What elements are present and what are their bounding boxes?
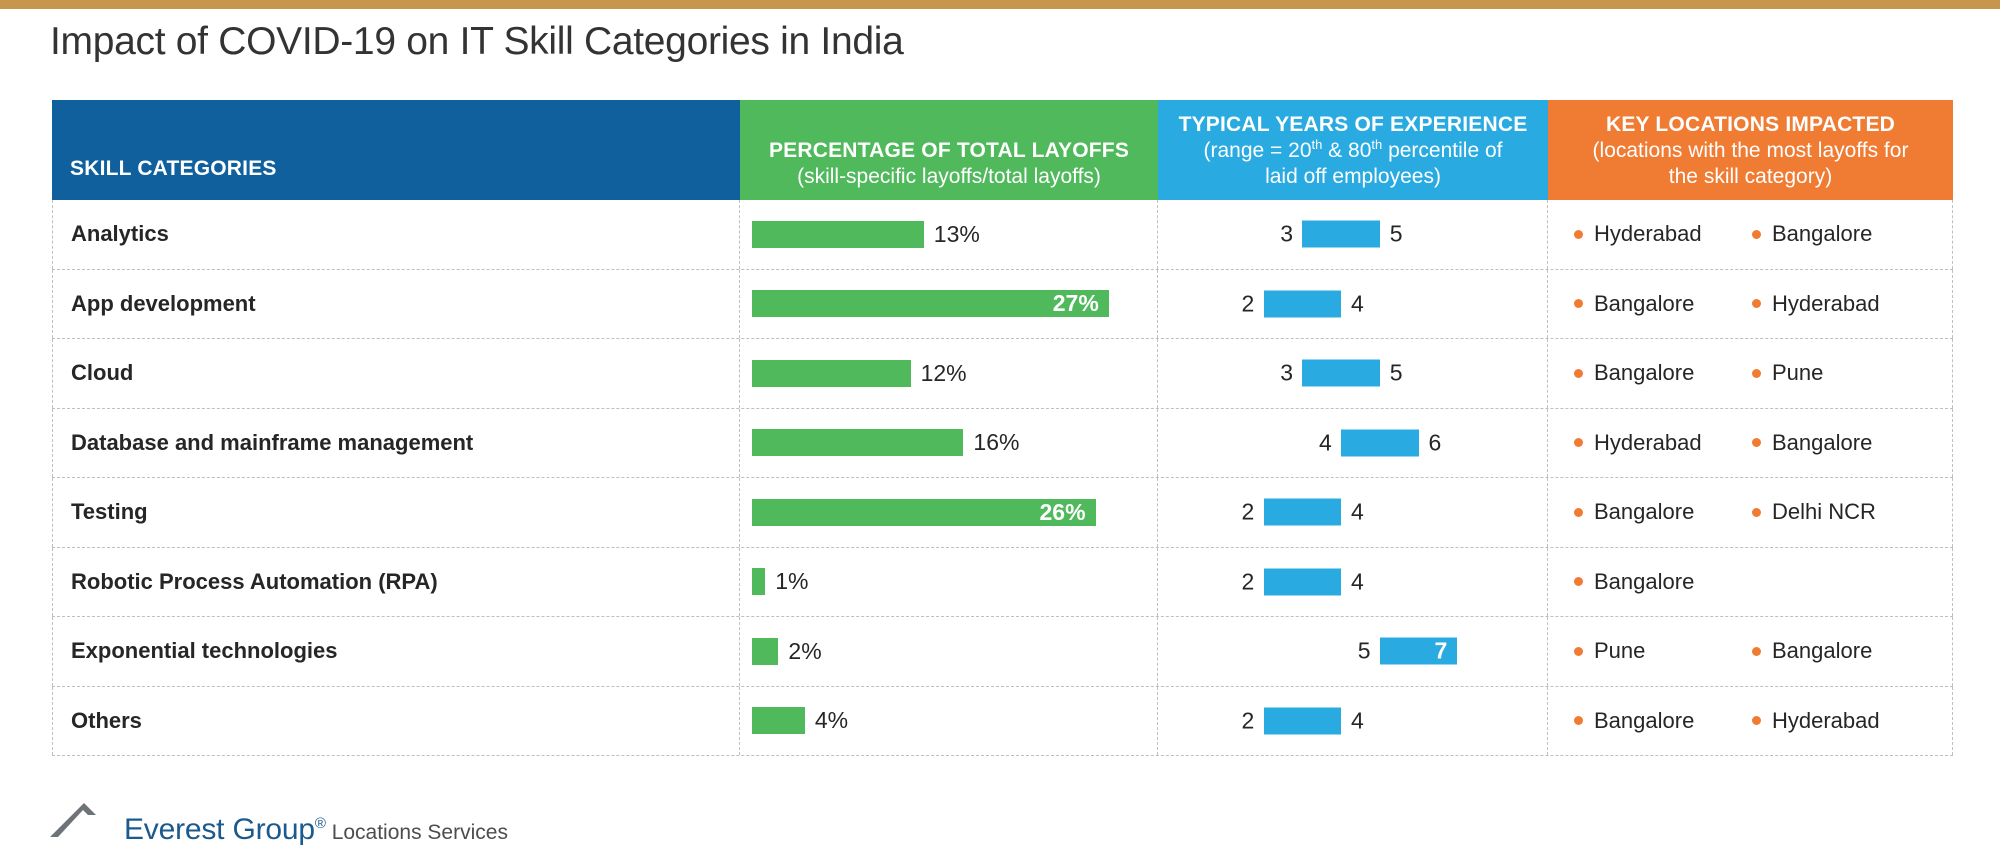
experience-range-bar bbox=[1302, 221, 1380, 248]
bullet-dot-icon bbox=[1752, 508, 1761, 517]
skill-category-label: Robotic Process Automation (RPA) bbox=[71, 569, 438, 595]
experience-range-wrapper: 46 bbox=[1158, 409, 1547, 478]
percentage-bar bbox=[752, 638, 778, 665]
column-header-key-locations-impacted: KEY LOCATIONS IMPACTED (locations with t… bbox=[1548, 100, 1953, 200]
percentage-value-label: 16% bbox=[963, 429, 1019, 456]
list-item: Bangalore bbox=[1752, 638, 1930, 664]
bullet-dot-icon bbox=[1574, 438, 1583, 447]
skill-category-label: App development bbox=[71, 291, 256, 317]
percentage-value-label: 2% bbox=[778, 638, 821, 665]
column-header-locations-subtitle-line1: (locations with the most layoffs for bbox=[1593, 138, 1909, 164]
column-header-experience-subtitle-line2: laid off employees) bbox=[1265, 164, 1441, 190]
location-label: Bangalore bbox=[1594, 291, 1694, 317]
bullet-dot-icon bbox=[1574, 647, 1583, 656]
cell-key-locations-impacted: HyderabadBangalore bbox=[1548, 409, 1953, 478]
skill-category-label: Database and mainframe management bbox=[71, 430, 473, 456]
experience-min-label: 5 bbox=[1358, 638, 1371, 665]
exp-sub-c: percentile of bbox=[1382, 139, 1502, 162]
percentage-value-label: 13% bbox=[924, 221, 980, 248]
skill-category-label: Others bbox=[71, 708, 142, 734]
list-item: Bangalore bbox=[1574, 569, 1752, 595]
list-item: Bangalore bbox=[1752, 430, 1930, 456]
cell-typical-years-of-experience: 24 bbox=[1158, 478, 1548, 547]
table-row: App development27%24BangaloreHyderabad bbox=[52, 270, 1953, 340]
experience-range-bar bbox=[1264, 499, 1342, 526]
bullet-dot-icon bbox=[1752, 369, 1761, 378]
percentage-bar: 26% bbox=[752, 499, 1096, 526]
list-item: Bangalore bbox=[1574, 360, 1752, 386]
location-label: Hyderabad bbox=[1594, 221, 1702, 247]
bullet-dot-icon bbox=[1752, 647, 1761, 656]
column-header-skill-categories-label: SKILL CATEGORIES bbox=[70, 156, 277, 182]
table-row: Others4%24BangaloreHyderabad bbox=[52, 687, 1953, 757]
experience-min-label: 2 bbox=[1242, 290, 1255, 317]
experience-max-label: 5 bbox=[1390, 221, 1403, 248]
cell-percentage-of-total-layoffs: 4% bbox=[740, 687, 1158, 756]
table-row: Database and mainframe management16%46Hy… bbox=[52, 409, 1953, 479]
locations-list: HyderabadBangalore bbox=[1548, 221, 1952, 247]
experience-min-label: 2 bbox=[1242, 568, 1255, 595]
cell-skill-category: Database and mainframe management bbox=[52, 409, 740, 478]
column-header-locations-subtitle-line2: the skill category) bbox=[1669, 164, 1832, 190]
cell-typical-years-of-experience: 24 bbox=[1158, 270, 1548, 339]
everest-group-text: Everest Group bbox=[124, 813, 315, 846]
location-label: Hyderabad bbox=[1772, 291, 1880, 317]
registered-trademark-icon: ® bbox=[315, 815, 326, 832]
exp-sub-b: & 80 bbox=[1322, 139, 1371, 162]
locations-list: BangaloreHyderabad bbox=[1548, 708, 1952, 734]
experience-min-label: 2 bbox=[1242, 499, 1255, 526]
percentage-bar-wrapper: 2% bbox=[740, 638, 1157, 665]
experience-min-label: 3 bbox=[1280, 221, 1293, 248]
location-label: Bangalore bbox=[1772, 430, 1872, 456]
cell-percentage-of-total-layoffs: 12% bbox=[740, 339, 1158, 408]
percentage-bar-wrapper: 4% bbox=[740, 707, 1157, 734]
cell-percentage-of-total-layoffs: 16% bbox=[740, 409, 1158, 478]
bullet-dot-icon bbox=[1574, 299, 1583, 308]
percentage-bar-wrapper: 26% bbox=[740, 499, 1157, 526]
table-row: Cloud12%35BangalorePune bbox=[52, 339, 1953, 409]
cell-typical-years-of-experience: 35 bbox=[1158, 200, 1548, 269]
cell-skill-category: Analytics bbox=[52, 200, 740, 269]
experience-min-label: 3 bbox=[1280, 360, 1293, 387]
percentage-bar-wrapper: 13% bbox=[740, 221, 1157, 248]
exp-sub-a: (range = 20 bbox=[1204, 139, 1312, 162]
experience-range-bar bbox=[1264, 290, 1342, 317]
experience-min-label: 2 bbox=[1242, 707, 1255, 734]
cell-skill-category: Robotic Process Automation (RPA) bbox=[52, 548, 740, 617]
table-row: Testing26%24BangaloreDelhi NCR bbox=[52, 478, 1953, 548]
table-header-row: SKILL CATEGORIES PERCENTAGE OF TOTAL LAY… bbox=[52, 100, 1953, 200]
column-header-percentage-title: PERCENTAGE OF TOTAL LAYOFFS bbox=[769, 138, 1129, 164]
column-header-locations-title: KEY LOCATIONS IMPACTED bbox=[1606, 112, 1895, 138]
location-label: Bangalore bbox=[1772, 638, 1872, 664]
experience-range-wrapper: 35 bbox=[1158, 200, 1547, 269]
exp-sup-80th: th bbox=[1371, 137, 1382, 152]
percentage-bar-wrapper: 27% bbox=[740, 290, 1157, 317]
bullet-dot-icon bbox=[1574, 369, 1583, 378]
exp-sup-20th: th bbox=[1312, 137, 1323, 152]
location-label: Bangalore bbox=[1772, 221, 1872, 247]
location-label: Bangalore bbox=[1594, 708, 1694, 734]
locations-list: PuneBangalore bbox=[1548, 638, 1952, 664]
skill-categories-table: SKILL CATEGORIES PERCENTAGE OF TOTAL LAY… bbox=[52, 100, 1953, 756]
experience-range-wrapper: 57 bbox=[1158, 617, 1547, 686]
percentage-bar bbox=[752, 221, 924, 248]
skill-category-label: Exponential technologies bbox=[71, 638, 337, 664]
experience-max-label: 6 bbox=[1429, 429, 1442, 456]
cell-skill-category: App development bbox=[52, 270, 740, 339]
cell-typical-years-of-experience: 24 bbox=[1158, 687, 1548, 756]
column-header-typical-years-of-experience: TYPICAL YEARS OF EXPERIENCE (range = 20t… bbox=[1158, 100, 1548, 200]
experience-max-label: 4 bbox=[1351, 499, 1364, 526]
list-item: Hyderabad bbox=[1752, 708, 1930, 734]
bullet-dot-icon bbox=[1752, 716, 1761, 725]
column-header-percentage-of-total-layoffs: PERCENTAGE OF TOTAL LAYOFFS (skill-speci… bbox=[740, 100, 1158, 200]
experience-range-bar: 7 bbox=[1380, 638, 1458, 665]
cell-percentage-of-total-layoffs: 13% bbox=[740, 200, 1158, 269]
experience-max-label: 7 bbox=[1434, 638, 1457, 665]
percentage-value-label: 27% bbox=[1053, 290, 1109, 317]
cell-key-locations-impacted: BangalorePune bbox=[1548, 339, 1953, 408]
experience-min-label: 4 bbox=[1319, 429, 1332, 456]
footer-logo: Everest Group® Locations Services bbox=[50, 784, 508, 844]
table-row: Robotic Process Automation (RPA)1%24Bang… bbox=[52, 548, 1953, 618]
percentage-value-label: 12% bbox=[911, 360, 967, 387]
list-item: Pune bbox=[1574, 638, 1752, 664]
locations-list: BangaloreDelhi NCR bbox=[1548, 499, 1952, 525]
experience-range-bar bbox=[1264, 707, 1342, 734]
cell-key-locations-impacted: HyderabadBangalore bbox=[1548, 200, 1953, 269]
location-label: Bangalore bbox=[1594, 569, 1694, 595]
experience-range-bar bbox=[1341, 429, 1419, 456]
table-row: Analytics13%35HyderabadBangalore bbox=[52, 200, 1953, 270]
experience-range-bar bbox=[1302, 360, 1380, 387]
bullet-dot-icon bbox=[1752, 230, 1761, 239]
cell-typical-years-of-experience: 24 bbox=[1158, 548, 1548, 617]
cell-percentage-of-total-layoffs: 2% bbox=[740, 617, 1158, 686]
table-body: Analytics13%35HyderabadBangaloreApp deve… bbox=[52, 200, 1953, 756]
cell-skill-category: Cloud bbox=[52, 339, 740, 408]
location-label: Bangalore bbox=[1594, 360, 1694, 386]
experience-max-label: 4 bbox=[1351, 290, 1364, 317]
everest-group-wordmark: Everest Group® bbox=[124, 813, 326, 847]
percentage-bar bbox=[752, 360, 911, 387]
list-item: Hyderabad bbox=[1752, 291, 1930, 317]
cell-skill-category: Others bbox=[52, 687, 740, 756]
locations-services-label: Locations Services bbox=[332, 821, 508, 845]
cell-percentage-of-total-layoffs: 26% bbox=[740, 478, 1158, 547]
cell-key-locations-impacted: BangaloreHyderabad bbox=[1548, 270, 1953, 339]
locations-list: HyderabadBangalore bbox=[1548, 430, 1952, 456]
experience-max-label: 4 bbox=[1351, 568, 1364, 595]
column-header-experience-title: TYPICAL YEARS OF EXPERIENCE bbox=[1179, 112, 1528, 138]
table-row: Exponential technologies2%57PuneBangalor… bbox=[52, 617, 1953, 687]
locations-list: BangaloreHyderabad bbox=[1548, 291, 1952, 317]
cell-percentage-of-total-layoffs: 27% bbox=[740, 270, 1158, 339]
cell-typical-years-of-experience: 35 bbox=[1158, 339, 1548, 408]
cell-skill-category: Testing bbox=[52, 478, 740, 547]
cell-typical-years-of-experience: 57 bbox=[1158, 617, 1548, 686]
list-item: Delhi NCR bbox=[1752, 499, 1930, 525]
experience-range-bar bbox=[1264, 568, 1342, 595]
percentage-bar bbox=[752, 707, 805, 734]
percentage-bar: 27% bbox=[752, 290, 1109, 317]
percentage-value-label: 1% bbox=[765, 568, 808, 595]
cell-key-locations-impacted: PuneBangalore bbox=[1548, 617, 1953, 686]
bullet-dot-icon bbox=[1574, 508, 1583, 517]
experience-range-wrapper: 24 bbox=[1158, 548, 1547, 617]
experience-max-label: 4 bbox=[1351, 707, 1364, 734]
percentage-bar-wrapper: 1% bbox=[740, 568, 1157, 595]
bullet-dot-icon bbox=[1752, 438, 1761, 447]
cell-typical-years-of-experience: 46 bbox=[1158, 409, 1548, 478]
list-item: Hyderabad bbox=[1574, 221, 1752, 247]
location-label: Pune bbox=[1594, 638, 1645, 664]
page-title: Impact of COVID-19 on IT Skill Categorie… bbox=[50, 20, 904, 64]
top-accent-bar bbox=[0, 0, 2000, 9]
experience-range-wrapper: 24 bbox=[1158, 478, 1547, 547]
location-label: Hyderabad bbox=[1772, 708, 1880, 734]
percentage-bar bbox=[752, 429, 963, 456]
column-header-percentage-subtitle: (skill-specific layoffs/total layoffs) bbox=[797, 164, 1101, 190]
location-label: Hyderabad bbox=[1594, 430, 1702, 456]
locations-list: BangalorePune bbox=[1548, 360, 1952, 386]
bullet-dot-icon bbox=[1574, 577, 1583, 586]
percentage-value-label: 26% bbox=[1040, 499, 1096, 526]
location-label: Bangalore bbox=[1594, 499, 1694, 525]
percentage-bar-wrapper: 16% bbox=[740, 429, 1157, 456]
everest-peak-icon bbox=[50, 799, 122, 844]
cell-key-locations-impacted: Bangalore bbox=[1548, 548, 1953, 617]
bullet-dot-icon bbox=[1574, 716, 1583, 725]
cell-percentage-of-total-layoffs: 1% bbox=[740, 548, 1158, 617]
location-label: Delhi NCR bbox=[1772, 499, 1876, 525]
experience-range-wrapper: 24 bbox=[1158, 270, 1547, 339]
skill-category-label: Analytics bbox=[71, 221, 169, 247]
percentage-bar-wrapper: 12% bbox=[740, 360, 1157, 387]
column-header-skill-categories: SKILL CATEGORIES bbox=[52, 100, 740, 200]
experience-max-label: 5 bbox=[1390, 360, 1403, 387]
experience-range-wrapper: 24 bbox=[1158, 687, 1547, 756]
location-label: Pune bbox=[1772, 360, 1823, 386]
list-item: Bangalore bbox=[1574, 499, 1752, 525]
cell-skill-category: Exponential technologies bbox=[52, 617, 740, 686]
percentage-bar bbox=[752, 568, 765, 595]
list-item: Bangalore bbox=[1752, 221, 1930, 247]
list-item: Bangalore bbox=[1574, 291, 1752, 317]
column-header-experience-subtitle-line1: (range = 20th & 80th percentile of bbox=[1204, 138, 1503, 164]
list-item: Pune bbox=[1752, 360, 1930, 386]
bullet-dot-icon bbox=[1574, 230, 1583, 239]
cell-key-locations-impacted: BangaloreHyderabad bbox=[1548, 687, 1953, 756]
experience-range-wrapper: 35 bbox=[1158, 339, 1547, 408]
list-item: Bangalore bbox=[1574, 708, 1752, 734]
skill-category-label: Cloud bbox=[71, 360, 133, 386]
skill-category-label: Testing bbox=[71, 499, 148, 525]
locations-list: Bangalore bbox=[1548, 569, 1952, 595]
cell-key-locations-impacted: BangaloreDelhi NCR bbox=[1548, 478, 1953, 547]
percentage-value-label: 4% bbox=[805, 707, 848, 734]
bullet-dot-icon bbox=[1752, 299, 1761, 308]
list-item: Hyderabad bbox=[1574, 430, 1752, 456]
